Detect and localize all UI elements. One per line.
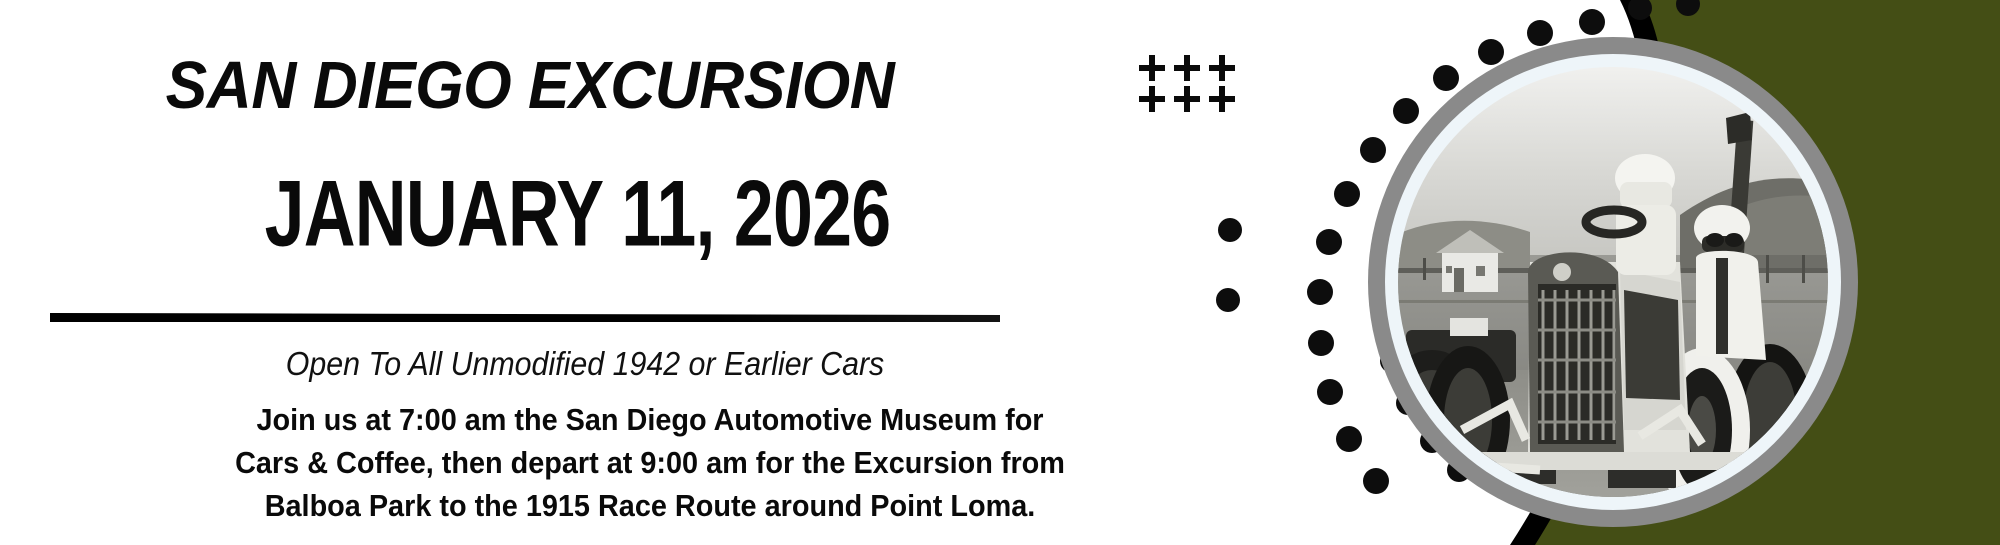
plus-icon — [1139, 55, 1165, 81]
plus-icon — [1174, 86, 1200, 112]
event-banner: SAN DIEGO EXCURSION JANUARY 11, 2026 Ope… — [0, 0, 2000, 545]
banner-artwork — [1210, 0, 2000, 545]
event-details-line: Cars & Coffee, then depart at 9:00 am fo… — [46, 441, 1255, 484]
event-date: JANUARY 11, 2026 — [127, 167, 1028, 261]
page-title: SAN DIEGO EXCURSION — [37, 52, 1023, 119]
divider-rule — [50, 313, 1000, 322]
banner-text-block: SAN DIEGO EXCURSION JANUARY 11, 2026 Ope… — [0, 0, 1250, 545]
artwork-svg — [1210, 0, 2000, 545]
plus-icon — [1174, 55, 1200, 81]
event-details-line: Balboa Park to the 1915 Race Route aroun… — [46, 484, 1255, 527]
event-details-line: Join us at 7:00 am the San Diego Automot… — [46, 398, 1255, 441]
event-details: Join us at 7:00 am the San Diego Automot… — [46, 398, 1255, 527]
eligibility-tagline: Open To All Unmodified 1942 or Earlier C… — [47, 347, 1123, 380]
plus-icon — [1139, 86, 1165, 112]
